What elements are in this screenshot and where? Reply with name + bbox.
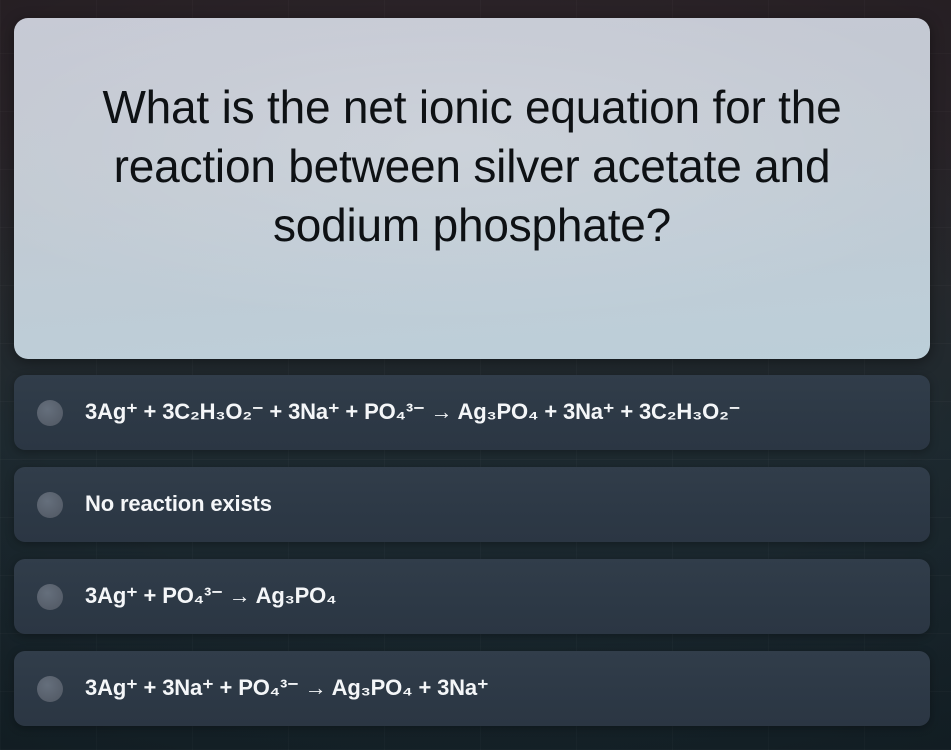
question-card: What is the net ionic equation for the r… bbox=[14, 18, 930, 359]
answer-option-label: 3Ag⁺ + 3C₂H₃O₂⁻ + 3Na⁺ + PO₄³⁻ → Ag₃PO₄ … bbox=[85, 399, 930, 425]
answer-option-label: 3Ag⁺ + PO₄³⁻ → Ag₃PO₄ bbox=[85, 583, 930, 609]
answer-option-2[interactable]: No reaction exists bbox=[14, 467, 930, 542]
answer-option-1[interactable]: 3Ag⁺ + 3C₂H₃O₂⁻ + 3Na⁺ + PO₄³⁻ → Ag₃PO₄ … bbox=[14, 375, 930, 450]
answer-options-list: 3Ag⁺ + 3C₂H₃O₂⁻ + 3Na⁺ + PO₄³⁻ → Ag₃PO₄ … bbox=[14, 375, 930, 726]
radio-icon[interactable] bbox=[37, 676, 63, 702]
question-text: What is the net ionic equation for the r… bbox=[24, 78, 920, 256]
answer-option-label: 3Ag⁺ + 3Na⁺ + PO₄³⁻ → Ag₃PO₄ + 3Na⁺ bbox=[85, 675, 930, 701]
answer-option-label: No reaction exists bbox=[85, 491, 930, 517]
answer-option-3[interactable]: 3Ag⁺ + PO₄³⁻ → Ag₃PO₄ bbox=[14, 559, 930, 634]
radio-icon[interactable] bbox=[37, 492, 63, 518]
radio-icon[interactable] bbox=[37, 400, 63, 426]
radio-icon[interactable] bbox=[37, 584, 63, 610]
answer-option-4[interactable]: 3Ag⁺ + 3Na⁺ + PO₄³⁻ → Ag₃PO₄ + 3Na⁺ bbox=[14, 651, 930, 726]
quiz-screen: What is the net ionic equation for the r… bbox=[0, 0, 951, 750]
